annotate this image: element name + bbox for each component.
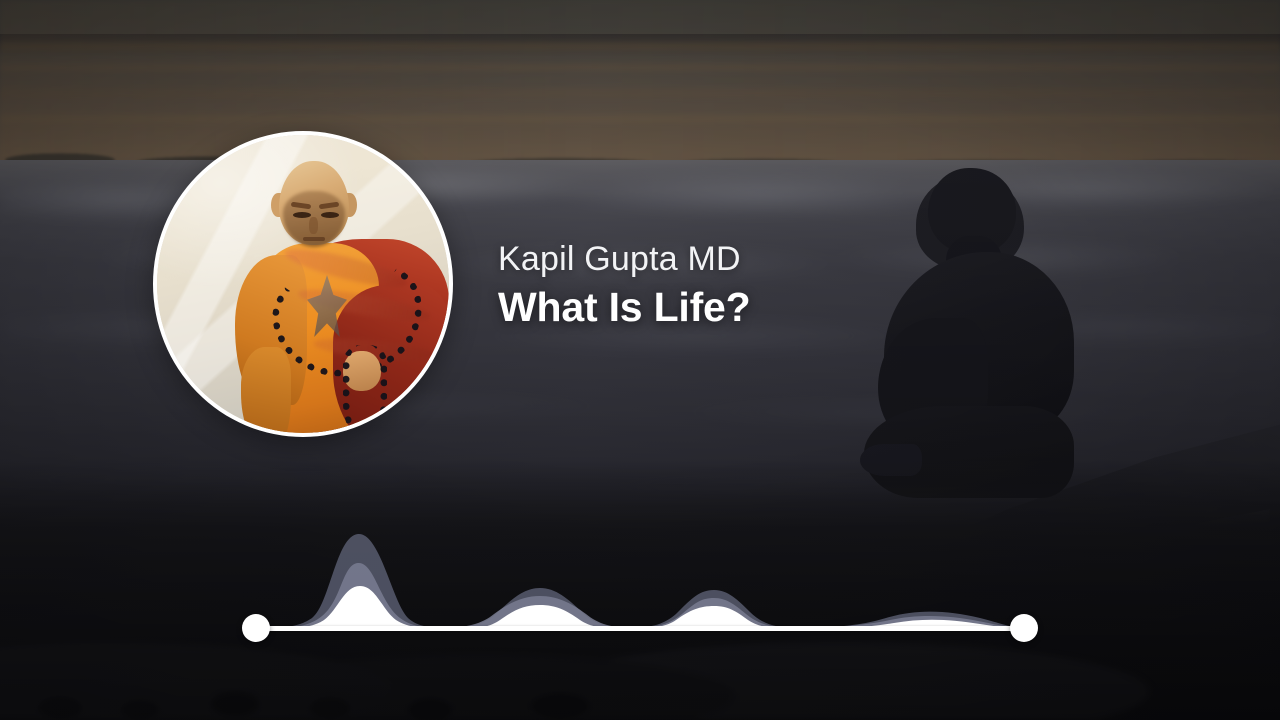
episode-title: What Is Life? bbox=[498, 285, 918, 331]
monk-nose bbox=[309, 217, 318, 234]
monk-right-eye bbox=[321, 212, 339, 218]
monk-left-arm bbox=[241, 347, 291, 433]
avatar[interactable] bbox=[153, 131, 453, 437]
waveform-front-layer bbox=[256, 586, 1024, 629]
monk-prayer-beads-strand bbox=[343, 345, 387, 433]
podcast-author: Kapil Gupta MD bbox=[498, 240, 918, 279]
progress-track[interactable] bbox=[256, 626, 1024, 631]
monk-mouth bbox=[303, 237, 325, 241]
avatar-artwork bbox=[157, 135, 449, 433]
podcast-player-screen: Kapil Gupta MD What Is Life? bbox=[0, 0, 1280, 720]
playhead-end-knob[interactable] bbox=[1010, 614, 1038, 642]
episode-text-block: Kapil Gupta MD What Is Life? bbox=[498, 240, 918, 331]
playhead-start-knob[interactable] bbox=[242, 614, 270, 642]
monk-left-eye bbox=[293, 212, 311, 218]
audio-player[interactable] bbox=[0, 520, 1280, 650]
